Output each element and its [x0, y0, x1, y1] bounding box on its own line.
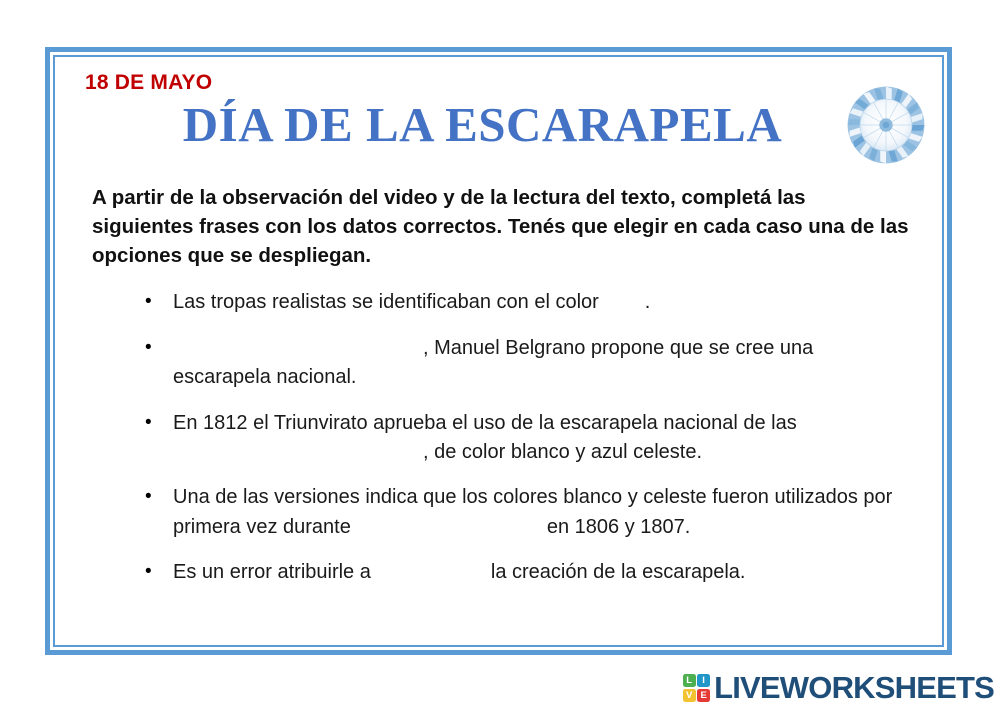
instructions-text: A partir de la observación del video y d…	[92, 183, 920, 270]
worksheet-inner-border: 18 DE MAYO DÍA DE LA ESCARAPELA	[53, 55, 944, 647]
sentence-prefix: Es un error atribuirle a	[173, 561, 371, 583]
bullet-icon: •	[145, 483, 152, 511]
answer-dropdown-colores-blanco-celeste[interactable]	[351, 513, 547, 533]
sentence-suffix: , de color blanco y azul celeste.	[423, 441, 702, 463]
logo-wordmark: LIVEWORKSHEETS	[714, 670, 994, 706]
answer-dropdown-error-atribuir[interactable]	[371, 558, 491, 578]
logo-letter-blocks-icon: L I V E	[683, 674, 711, 702]
answer-dropdown-triunvirato-1812[interactable]	[173, 438, 423, 458]
answer-dropdown-manuel-belgrano[interactable]	[173, 334, 423, 354]
logo-block-i: I	[697, 674, 710, 687]
exercise-item-error-atribuir: •Es un error atribuirle ala creación de …	[173, 558, 910, 587]
escarapela-rosette-icon	[838, 77, 934, 173]
exercise-list: •Las tropas realistas se identificaban c…	[85, 288, 920, 587]
page-title: DÍA DE LA ESCARAPELA	[85, 99, 920, 152]
answer-dropdown-tropas-realistas[interactable]	[599, 288, 645, 308]
sentence-suffix: la creación de la escarapela.	[491, 561, 746, 583]
title-row: DÍA DE LA ESCARAPELA	[85, 99, 920, 177]
sentence-suffix: .	[645, 291, 651, 313]
exercise-item-tropas-realistas: •Las tropas realistas se identificaban c…	[173, 288, 910, 317]
worksheet-frame: 18 DE MAYO DÍA DE LA ESCARAPELA	[45, 47, 952, 655]
exercise-item-manuel-belgrano: •, Manuel Belgrano propone que se cree u…	[173, 334, 910, 393]
sentence-prefix: Las tropas realistas se identificaban co…	[173, 291, 599, 313]
bullet-icon: •	[145, 409, 152, 437]
sentence-suffix: en 1806 y 1807.	[547, 516, 690, 538]
bullet-icon: •	[145, 558, 152, 586]
exercise-item-triunvirato-1812: •En 1812 el Triunvirato aprueba el uso d…	[173, 409, 910, 468]
logo-block-e: E	[697, 689, 710, 702]
sentence-prefix: En 1812 el Triunvirato aprueba el uso de…	[173, 412, 797, 434]
bullet-icon: •	[145, 334, 152, 362]
date-heading: 18 DE MAYO	[85, 71, 920, 95]
worksheet-content: 18 DE MAYO DÍA DE LA ESCARAPELA	[55, 57, 942, 645]
exercise-item-colores-blanco-celeste: •Una de las versiones indica que los col…	[173, 483, 910, 542]
liveworksheets-logo[interactable]: L I V E LIVEWORKSHEETS	[683, 669, 994, 707]
bullet-icon: •	[145, 288, 152, 316]
logo-block-l: L	[683, 674, 696, 687]
logo-block-v: V	[683, 689, 696, 702]
